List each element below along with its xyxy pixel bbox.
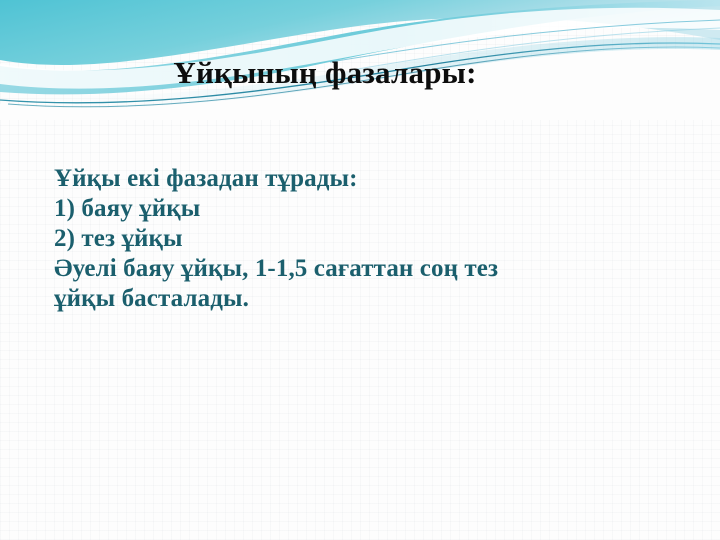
presentation-slide: Ұйқының фазалары: Ұйқы екі фазадан тұрад… xyxy=(0,0,720,540)
body-line: Әуелі баяу ұйқы, 1-1,5 сағаттан соң тез xyxy=(54,254,674,284)
body-line: 1) баяу ұйқы xyxy=(54,194,674,224)
body-line: ұйқы басталады. xyxy=(54,284,674,314)
body-line: 2) тез ұйқы xyxy=(54,224,674,254)
slide-body-text: Ұйқы екі фазадан тұрады: 1) баяу ұйқы 2)… xyxy=(54,164,674,314)
body-line: Ұйқы екі фазадан тұрады: xyxy=(54,164,674,194)
slide-title: Ұйқының фазалары: xyxy=(0,56,720,90)
